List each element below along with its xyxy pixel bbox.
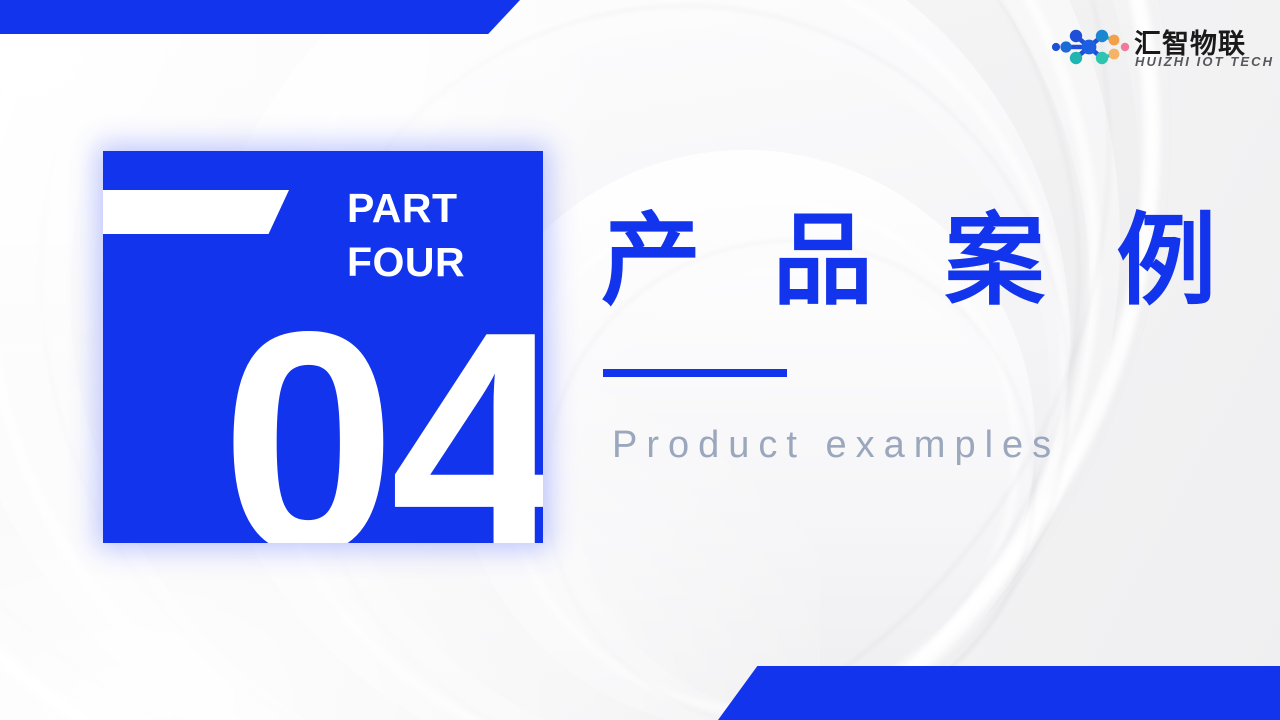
slide-canvas: PART FOUR 04 产 品 案 例 Product examples [0,0,1280,720]
logo-company-name-en: HUIZHI IOT TECH [1135,54,1274,69]
heading-block: 产 品 案 例 [601,206,1241,316]
section-number: 04 [221,307,543,543]
brand-logo: 汇智物联 HUIZHI IOT TECH [1046,24,1270,72]
bottom-right-blue-bar [718,666,1280,720]
section-number-panel: PART FOUR 04 [103,151,543,543]
page-subtitle: Product examples [612,424,1060,467]
title-underline-rule [603,369,787,377]
page-title: 产 品 案 例 [601,206,1241,316]
white-slash-accent [103,190,289,234]
top-left-blue-bar [0,0,520,34]
part-label-line1: PART [347,185,458,231]
molecule-network-icon [1046,24,1130,70]
